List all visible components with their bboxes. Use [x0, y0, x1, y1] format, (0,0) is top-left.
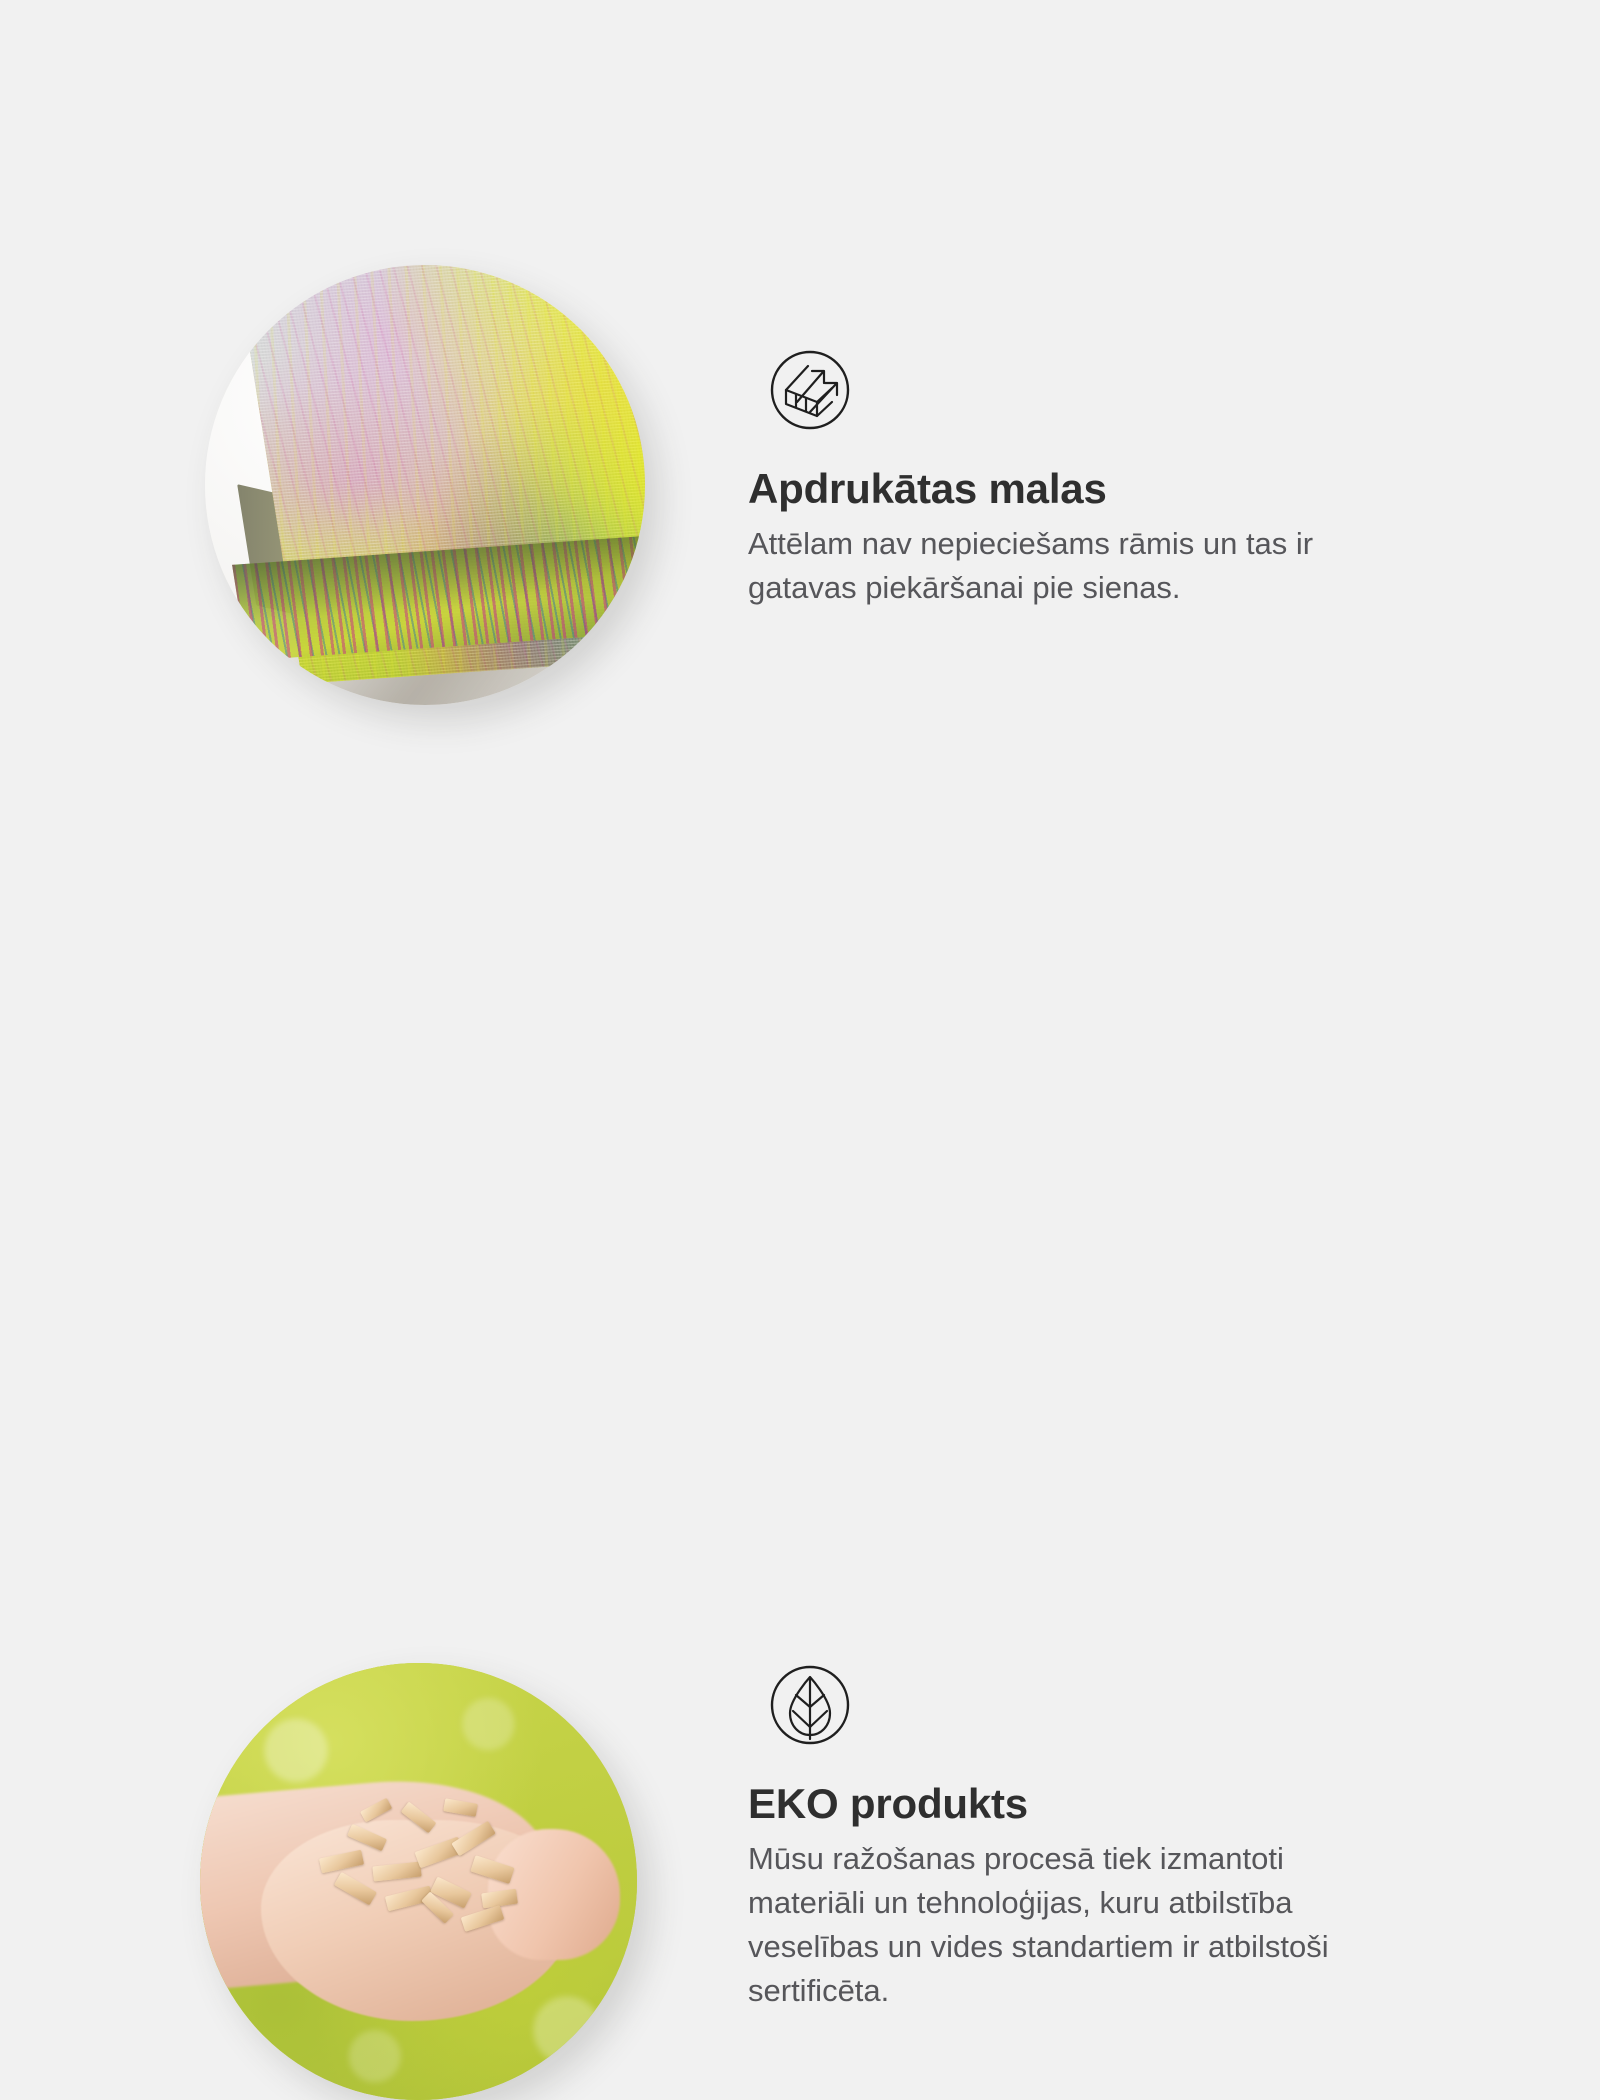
feature-description-line: veselības un vides standartiem ir atbils…	[748, 1925, 1448, 1969]
eco-illustration	[200, 1663, 637, 2100]
feature-description-line: Attēlam nav nepieciešams rāmis un tas ir	[748, 522, 1448, 566]
canvas-corner-photo	[205, 265, 645, 705]
product-features-page: Apdrukātas malas Attēlam nav nepieciešam…	[0, 0, 1600, 1600]
feature-description-line: Mūsu ražošanas procesā tiek izmantoti	[748, 1837, 1448, 1881]
canvas-corner-illustration	[205, 265, 645, 705]
leaf-icon	[760, 1655, 860, 1755]
copy-eco-product: EKO produkts Mūsu ražošanas procesā tiek…	[748, 1655, 1488, 2013]
feature-description-line: gatavas piekāršanai pie sienas.	[748, 566, 1448, 610]
copy-printed-edges: Apdrukātas malas Attēlam nav nepieciešam…	[748, 340, 1488, 610]
feature-title: EKO produkts	[748, 1780, 1488, 1827]
feature-printed-edges: Apdrukātas malas Attēlam nav nepieciešam…	[0, 0, 1600, 800]
feature-description: Mūsu ražošanas procesā tiek izmantoti ma…	[748, 1837, 1448, 2013]
hands-with-wood-chips-photo	[200, 1663, 637, 2100]
feature-eco-product: EKO produkts Mūsu ražošanas procesā tiek…	[0, 800, 1600, 1600]
wrapped-canvas-edge-icon	[760, 340, 860, 440]
feature-description-line: sertificēta.	[748, 1969, 1448, 2013]
feature-description-line: materiāli un tehnoloģijas, kuru atbilstī…	[748, 1881, 1448, 1925]
wood-chips-pile	[305, 1781, 558, 1947]
feature-description: Attēlam nav nepieciešams rāmis un tas ir…	[748, 522, 1448, 610]
feature-title: Apdrukātas malas	[748, 465, 1488, 512]
